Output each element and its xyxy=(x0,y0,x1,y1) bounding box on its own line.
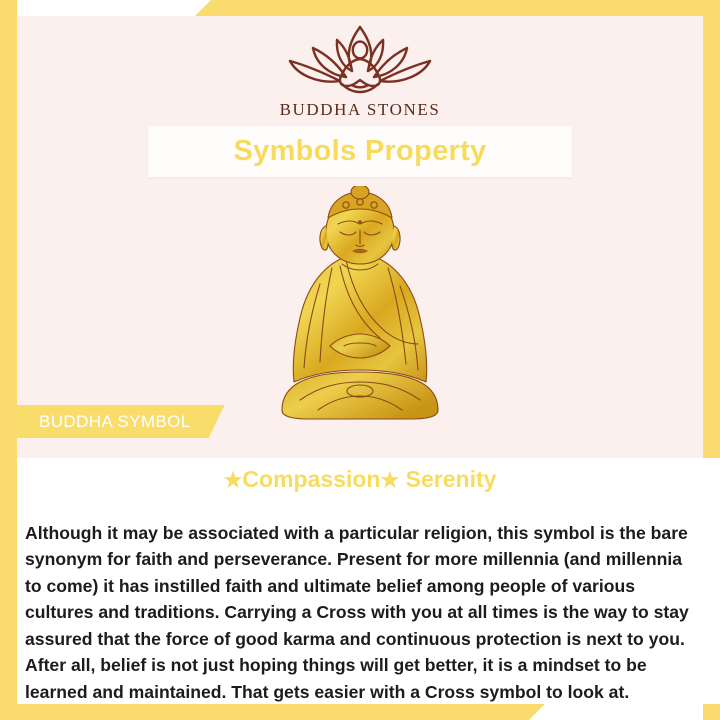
description-paragraph: Although it may be associated with a par… xyxy=(25,520,697,706)
attribute-serenity: Serenity xyxy=(406,466,497,492)
lotus-meditation-icon xyxy=(276,22,444,96)
badge-label: BUDDHA SYMBOL xyxy=(39,412,191,432)
brand-name: BUDDHA STONES xyxy=(0,100,720,120)
seated-buddha-statue-icon xyxy=(260,186,460,426)
page-title: Symbols Property xyxy=(234,135,487,168)
star-icon-2: ★ xyxy=(380,469,399,492)
top-accent-band xyxy=(195,0,720,16)
buddha-illustration xyxy=(0,176,720,426)
attribute-compassion: Compassion xyxy=(242,466,380,492)
bottom-accent-band xyxy=(0,704,545,720)
attributes-headline: ★Compassion★ Serenity xyxy=(17,466,703,493)
title-banner: Symbols Property xyxy=(148,126,572,177)
buddha-symbol-badge: BUDDHA SYMBOL xyxy=(17,405,225,438)
brand-logo: BUDDHA STONES xyxy=(0,22,720,120)
star-icon-1: ★ xyxy=(224,469,243,492)
poster-container: BUDDHA STONES Symbols Property xyxy=(0,0,720,720)
